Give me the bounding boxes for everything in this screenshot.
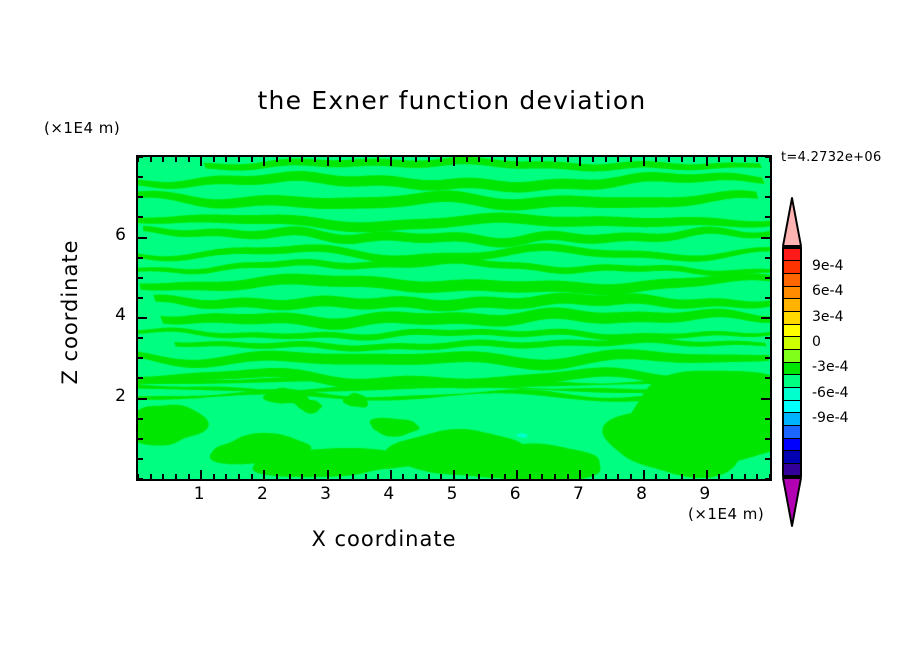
axis-tick: [765, 257, 770, 259]
colorbar-band-divider: [783, 438, 801, 439]
axis-tick: [668, 474, 670, 479]
axis-tick: [428, 157, 430, 162]
axis-tick: [630, 474, 632, 479]
y-tick-label: 2: [104, 386, 126, 406]
axis-tick: [138, 196, 143, 198]
axis-tick: [263, 470, 265, 479]
axis-tick: [706, 157, 708, 166]
axis-tick: [765, 156, 770, 158]
axis-tick: [276, 474, 278, 479]
colorbar-band-divider: [783, 336, 801, 337]
axis-tick: [200, 470, 202, 479]
axis-tick: [529, 157, 531, 162]
axis-tick: [643, 470, 645, 479]
axis-tick: [592, 157, 594, 162]
colorbar-band-divider: [783, 374, 801, 375]
x-tick-label: 9: [690, 484, 720, 504]
axis-tick: [516, 157, 518, 166]
axis-tick: [289, 474, 291, 479]
axis-tick: [138, 438, 143, 440]
colorbar-tick-label: 9e-4: [812, 258, 843, 274]
axis-tick: [175, 474, 177, 479]
axis-tick: [138, 478, 143, 480]
colorbar-band-divider: [783, 450, 801, 451]
y-tick-label: 4: [104, 305, 126, 325]
axis-tick: [491, 157, 493, 162]
axis-tick: [466, 474, 468, 479]
axis-tick: [718, 157, 720, 162]
colorbar-band-divider: [783, 412, 801, 413]
axis-tick: [765, 176, 770, 178]
colorbar-band-divider: [783, 324, 801, 325]
axis-tick: [138, 297, 143, 299]
axis-tick: [377, 157, 379, 162]
axis-tick: [138, 398, 147, 400]
colorbar-over-arrow: [781, 196, 803, 248]
axis-tick: [138, 317, 147, 319]
axis-tick: [554, 474, 556, 479]
x-tick-label: 3: [311, 484, 341, 504]
axis-tick: [415, 474, 417, 479]
axis-tick: [377, 474, 379, 479]
axis-tick: [765, 458, 770, 460]
axis-tick: [251, 157, 253, 162]
axis-tick: [516, 470, 518, 479]
axis-tick: [238, 474, 240, 479]
colorbar[interactable]: [783, 248, 801, 476]
axis-tick: [225, 474, 227, 479]
axis-tick: [504, 474, 506, 479]
colorbar-band-divider: [783, 463, 801, 464]
axis-tick: [415, 157, 417, 162]
colorbar-band-divider: [783, 349, 801, 350]
colorbar-band-divider: [783, 425, 801, 426]
axis-tick: [138, 216, 143, 218]
axis-tick: [765, 438, 770, 440]
axis-tick: [289, 157, 291, 162]
axis-tick: [175, 157, 177, 162]
axis-tick: [668, 157, 670, 162]
axis-tick: [390, 470, 392, 479]
axis-tick: [765, 377, 770, 379]
axis-tick: [138, 237, 147, 239]
axis-tick: [365, 157, 367, 162]
x-tick-label: 1: [184, 484, 214, 504]
axis-tick: [541, 157, 543, 162]
axis-tick: [339, 157, 341, 162]
axis-tick: [765, 277, 770, 279]
axis-tick: [756, 474, 758, 479]
axis-tick: [150, 474, 152, 479]
axis-tick: [718, 474, 720, 479]
colorbar-band-divider: [783, 400, 801, 401]
x-axis-units-label: (×1E4 m): [688, 505, 764, 523]
axis-tick: [756, 157, 758, 162]
axis-tick: [138, 418, 143, 420]
colorbar-tick-label: 3e-4: [812, 309, 843, 325]
axis-tick: [352, 474, 354, 479]
colorbar-band-divider: [783, 387, 801, 388]
axis-tick: [213, 474, 215, 479]
axis-tick: [188, 474, 190, 479]
axis-tick: [402, 474, 404, 479]
axis-tick: [138, 377, 143, 379]
x-axis-title: X coordinate: [0, 527, 768, 551]
axis-tick: [529, 474, 531, 479]
axis-tick: [200, 157, 202, 166]
axis-tick: [327, 157, 329, 166]
colorbar-tick-label: -3e-4: [812, 359, 849, 375]
axis-tick: [138, 357, 143, 359]
axis-tick: [681, 157, 683, 162]
x-tick-label: 5: [437, 484, 467, 504]
axis-tick: [301, 474, 303, 479]
axis-tick: [731, 157, 733, 162]
axis-tick: [579, 157, 581, 166]
axis-tick: [761, 237, 770, 239]
axis-tick: [592, 474, 594, 479]
axis-tick: [365, 474, 367, 479]
axis-tick: [765, 357, 770, 359]
axis-tick: [655, 474, 657, 479]
y-axis-units-label: (×1E4 m): [44, 119, 120, 137]
axis-tick: [188, 157, 190, 162]
axis-tick: [765, 196, 770, 198]
axis-tick: [314, 474, 316, 479]
axis-tick: [466, 157, 468, 162]
colorbar-band-divider: [783, 286, 801, 287]
axis-tick: [327, 470, 329, 479]
colorbar-tick-label: -6e-4: [812, 385, 849, 401]
axis-tick: [162, 474, 164, 479]
axis-tick: [428, 474, 430, 479]
axis-tick: [541, 474, 543, 479]
axis-tick: [138, 277, 143, 279]
colorbar-band-divider: [783, 311, 801, 312]
colorbar-tick-label: 0: [812, 334, 821, 350]
axis-tick: [225, 157, 227, 162]
colorbar-band: [783, 463, 801, 476]
axis-tick: [478, 474, 480, 479]
x-tick-label: 8: [627, 484, 657, 504]
colorbar-band-divider: [783, 362, 801, 363]
axis-tick: [352, 157, 354, 162]
y-tick-label: 6: [104, 225, 126, 245]
axis-tick: [744, 157, 746, 162]
contour-plot-area: [136, 155, 772, 481]
axis-tick: [554, 157, 556, 162]
axis-tick: [301, 157, 303, 162]
axis-tick: [213, 157, 215, 162]
axis-tick: [138, 156, 143, 158]
y-axis-title: Z coordinate: [58, 182, 82, 442]
axis-tick: [681, 474, 683, 479]
axis-tick: [138, 176, 143, 178]
axis-tick: [761, 317, 770, 319]
axis-tick: [276, 157, 278, 162]
axis-tick: [440, 474, 442, 479]
axis-tick: [761, 398, 770, 400]
colorbar-band-divider: [783, 298, 801, 299]
axis-tick: [643, 157, 645, 166]
axis-tick: [138, 458, 143, 460]
axis-tick: [605, 157, 607, 162]
axis-tick: [453, 157, 455, 166]
axis-tick: [617, 474, 619, 479]
x-tick-label: 6: [500, 484, 530, 504]
colorbar-tick-label: -9e-4: [812, 410, 849, 426]
axis-tick: [617, 157, 619, 162]
axis-tick: [390, 157, 392, 166]
axis-tick: [504, 157, 506, 162]
axis-tick: [605, 474, 607, 479]
axis-tick: [263, 157, 265, 166]
axis-tick: [706, 470, 708, 479]
x-tick-label: 4: [374, 484, 404, 504]
axis-tick: [731, 474, 733, 479]
colorbar-under-arrow: [781, 476, 803, 528]
axis-tick: [491, 474, 493, 479]
axis-tick: [693, 474, 695, 479]
axis-tick: [251, 474, 253, 479]
axis-tick: [138, 257, 143, 259]
x-tick-label: 7: [563, 484, 593, 504]
axis-tick: [693, 157, 695, 162]
axis-tick: [314, 157, 316, 162]
axis-tick: [655, 157, 657, 162]
contour-field: [138, 157, 770, 479]
axis-tick: [744, 474, 746, 479]
axis-tick: [138, 337, 143, 339]
axis-tick: [765, 216, 770, 218]
axis-tick: [567, 157, 569, 162]
axis-tick: [162, 157, 164, 162]
x-tick-label: 2: [247, 484, 277, 504]
axis-tick: [567, 474, 569, 479]
axis-tick: [630, 157, 632, 162]
colorbar-tick-label: 6e-4: [812, 283, 843, 299]
axis-tick: [150, 157, 152, 162]
colorbar-band-divider: [783, 260, 801, 261]
axis-tick: [478, 157, 480, 162]
axis-tick: [453, 470, 455, 479]
axis-tick: [765, 297, 770, 299]
axis-tick: [238, 157, 240, 162]
axis-tick: [765, 418, 770, 420]
colorbar-band-divider: [783, 273, 801, 274]
axis-tick: [339, 474, 341, 479]
timestamp-annotation: t=4.2732e+06: [781, 150, 882, 165]
axis-tick: [402, 157, 404, 162]
axis-tick: [765, 478, 770, 480]
axis-tick: [440, 157, 442, 162]
page-title: the Exner function deviation: [0, 86, 904, 115]
axis-tick: [765, 337, 770, 339]
axis-tick: [579, 470, 581, 479]
